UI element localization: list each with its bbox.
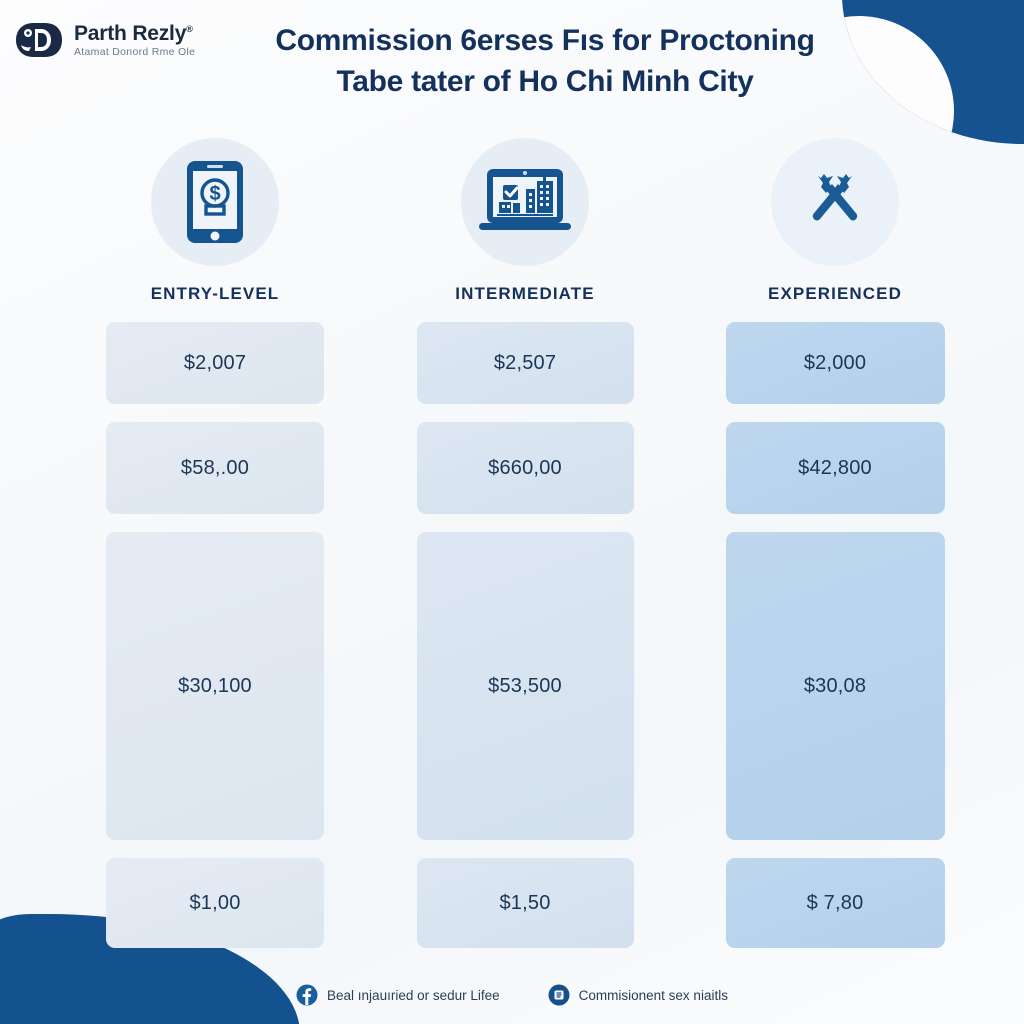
bar-value: $1,50 xyxy=(499,892,550,915)
intermediate-icon-badge xyxy=(461,138,589,266)
bars-experienced: $2,000 $42,800 $30,08 $ 7,80 xyxy=(715,322,955,966)
bar-value: $1,00 xyxy=(189,892,240,915)
bar-value: $2,000 xyxy=(804,352,866,375)
bar-row-4[interactable]: $ 7,80 xyxy=(726,858,945,948)
bar-value: $42,800 xyxy=(798,457,872,480)
column-header-intermediate: INTERMEDIATE xyxy=(455,284,594,304)
bar-row-4[interactable]: $1,50 xyxy=(417,858,634,948)
bar-value: $ 7,80 xyxy=(807,892,864,915)
bar-row-4[interactable]: $1,00 xyxy=(106,858,324,948)
laptop-buildings-checkmark-icon xyxy=(477,163,573,241)
footer-item-1[interactable]: Beal ınjauıried or sedur Lifee xyxy=(296,984,500,1006)
brand-name: Parth Rezly® xyxy=(74,23,195,44)
bar-value: $660,00 xyxy=(488,457,562,480)
column-header-experienced: EXPERIENCED xyxy=(768,284,902,304)
bar-value: $2,507 xyxy=(494,352,556,375)
comparison-columns: $ ENTRY-LEVEL $2,007 $58,.00 $30,100 $1,… xyxy=(95,138,955,966)
bar-value: $58,.00 xyxy=(181,457,249,480)
brand-logo: Parth Rezly® Atamat Donord Rme Ole xyxy=(10,18,195,62)
experienced-icon-badge xyxy=(771,138,899,266)
crossed-wrenches-icon xyxy=(799,166,871,238)
bar-row-3[interactable]: $30,08 xyxy=(726,532,945,840)
bar-row-2[interactable]: $42,800 xyxy=(726,422,945,514)
title-line-1: Commission 6erses Fıs for Proctoning xyxy=(215,20,875,61)
column-intermediate: INTERMEDIATE $2,507 $660,00 $53,500 $1,5… xyxy=(405,138,645,966)
footer-notes: Beal ınjauıried or sedur Lifee Commision… xyxy=(0,984,1024,1006)
page-title: Commission 6erses Fıs for Proctoning Tab… xyxy=(215,20,875,103)
bar-row-2[interactable]: $660,00 xyxy=(417,422,634,514)
bar-value: $2,007 xyxy=(184,352,246,375)
title-line-2: Tabe tater of Ho Chi Minh City xyxy=(215,61,875,102)
column-header-entry-level: ENTRY-LEVEL xyxy=(151,284,280,304)
bar-row-3[interactable]: $53,500 xyxy=(417,532,634,840)
brand-tagline: Atamat Donord Rme Ole xyxy=(74,47,195,58)
footer-item-2[interactable]: Commisionent sex niaitls xyxy=(548,984,728,1006)
brand-name-text: Parth Rezly xyxy=(74,22,186,45)
column-entry-level: $ ENTRY-LEVEL $2,007 $58,.00 $30,100 $1,… xyxy=(95,138,335,966)
bar-value: $30,08 xyxy=(804,675,866,698)
bar-row-2[interactable]: $58,.00 xyxy=(106,422,324,514)
infographic-canvas: Parth Rezly® Atamat Donord Rme Ole Commi… xyxy=(0,0,1024,1024)
bar-row-1[interactable]: $2,000 xyxy=(726,322,945,404)
bar-row-3[interactable]: $30,100 xyxy=(106,532,324,840)
bar-value: $53,500 xyxy=(488,675,562,698)
bars-intermediate: $2,507 $660,00 $53,500 $1,50 xyxy=(405,322,645,966)
abstract-d-monogram-icon xyxy=(10,18,66,62)
bar-row-1[interactable]: $2,507 xyxy=(417,322,634,404)
footer-label: Beal ınjauıried or sedur Lifee xyxy=(327,988,500,1003)
smartphone-dollar-icon: $ xyxy=(183,159,247,245)
svg-text:$: $ xyxy=(209,183,220,205)
bar-row-1[interactable]: $2,007 xyxy=(106,322,324,404)
footer-label: Commisionent sex niaitls xyxy=(579,988,728,1003)
registered-mark: ® xyxy=(186,24,192,34)
bar-value: $30,100 xyxy=(178,675,252,698)
column-experienced: EXPERIENCED $2,000 $42,800 $30,08 $ 7,80 xyxy=(715,138,955,966)
badge-circle-icon xyxy=(548,984,570,1006)
bars-entry-level: $2,007 $58,.00 $30,100 $1,00 xyxy=(95,322,335,966)
facebook-circle-icon xyxy=(296,984,318,1006)
entry-level-icon-badge: $ xyxy=(151,138,279,266)
